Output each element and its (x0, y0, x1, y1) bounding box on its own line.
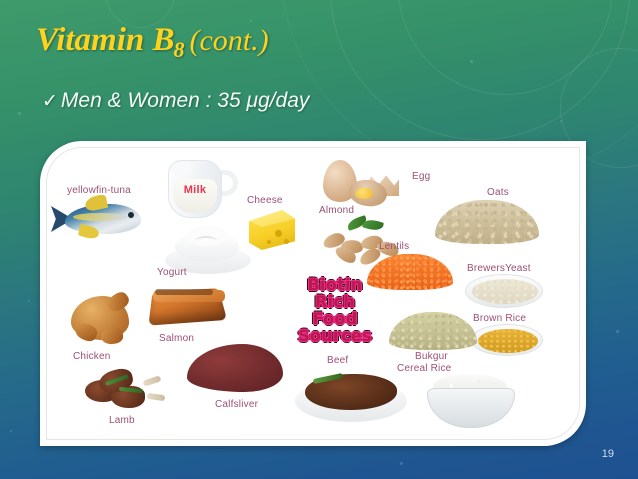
biotin-food-collage: yellowfin-tuna Milk Yog (47, 148, 580, 440)
collage-headline-line: Rich (275, 293, 395, 310)
food-image-calfsliver (187, 344, 287, 398)
background-speck (250, 20, 252, 22)
food-image-cereal-rice (423, 374, 519, 430)
collage-headline-line: Biotin (275, 276, 395, 293)
background-speck (10, 430, 12, 432)
collage-headline-line: Food (275, 310, 395, 327)
slide-title-subscript: 8 (173, 37, 184, 62)
slide-title-suffix: (cont.) (189, 24, 268, 57)
decorative-ring-icon (398, 0, 613, 95)
image-panel-border: yellowfin-tuna Milk Yog (46, 147, 580, 440)
food-label-yogurt: Yogurt (157, 268, 187, 278)
food-image-salmon (151, 288, 227, 330)
food-label-brewers-yeast: BrewersYeast (467, 264, 531, 274)
food-label-salmon: Salmon (159, 334, 194, 344)
food-label-beef: Beef (327, 356, 348, 366)
food-image-cheese (249, 210, 297, 252)
background-speck (400, 462, 403, 465)
food-image-beef (295, 366, 413, 426)
food-label-brown-rice: Brown Rice (473, 314, 526, 324)
check-icon: ✓ (42, 91, 58, 112)
food-label-lentils: Lentils (379, 242, 409, 252)
background-speck (560, 120, 562, 122)
food-image-brewers-yeast (465, 274, 543, 308)
food-image-egg (315, 160, 407, 208)
food-image-yellowfin-tuna (65, 196, 143, 242)
food-image-bukgur (389, 312, 477, 350)
page-number: 19 (602, 448, 614, 460)
background-speck (470, 60, 473, 63)
slide-title: Vitamin B8(cont.) (36, 24, 269, 61)
background-speck (18, 112, 21, 115)
food-label-almond: Almond (319, 206, 354, 216)
food-label-bukgur: Bukgur (415, 352, 448, 362)
food-label-yellowfin-tuna: yellowfin-tuna (67, 186, 131, 196)
collage-headline: Biotin Rich Food Sources (275, 276, 395, 344)
decorative-ring-icon (330, 0, 630, 140)
food-label-cheese: Cheese (247, 196, 283, 206)
food-label-oats: Oats (487, 188, 509, 198)
food-label-calfsliver: Calfsliver (215, 400, 258, 410)
food-label-chicken: Chicken (73, 352, 111, 362)
background-speck (616, 330, 619, 333)
food-label-lamb: Lamb (109, 416, 135, 426)
food-image-oats (435, 200, 539, 244)
food-image-brown-rice (471, 324, 543, 356)
food-image-milk: Milk (160, 154, 246, 224)
food-image-chicken (71, 290, 137, 348)
bullet-line: ✓Men & Women : 35 μg/day (42, 89, 309, 113)
bullet-text: Men & Women : 35 μg/day (61, 89, 309, 112)
image-panel: yellowfin-tuna Milk Yog (40, 141, 586, 446)
collage-headline-line: Sources (275, 327, 395, 344)
food-image-lamb (85, 366, 177, 412)
presentation-slide: Vitamin B8(cont.) ✓Men & Women : 35 μg/d… (0, 0, 638, 479)
milk-word-label: Milk (174, 184, 216, 196)
food-label-egg: Egg (412, 172, 430, 182)
background-speck (28, 300, 30, 302)
slide-title-main: Vitamin B (36, 22, 174, 58)
